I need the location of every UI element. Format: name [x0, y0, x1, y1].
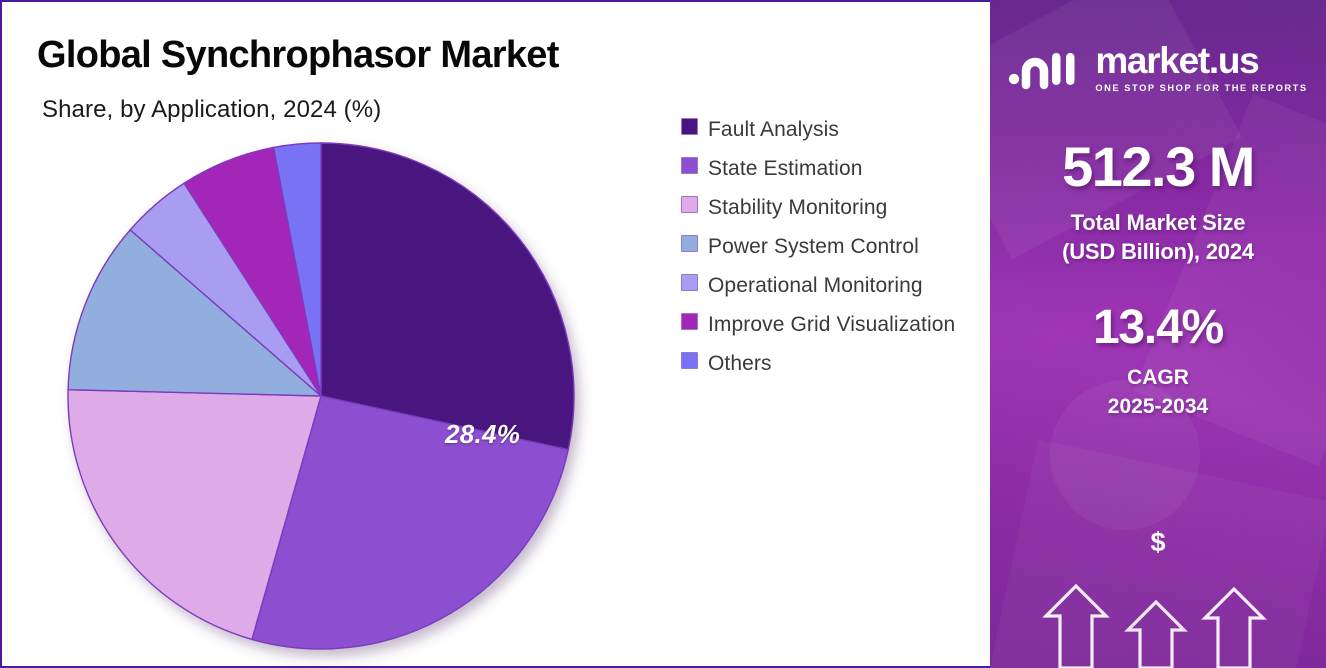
legend-item-state-estimation[interactable]: State Estimation	[681, 151, 981, 186]
legend-label: Stability Monitoring	[708, 190, 887, 225]
legend-item-fault-analysis[interactable]: Fault Analysis	[681, 112, 981, 147]
legend-label: Others	[708, 346, 772, 381]
legend-swatch-icon	[681, 118, 698, 135]
legend-item-others[interactable]: Others	[681, 346, 981, 381]
pie-slice-label-fault-analysis: 28.4%	[445, 419, 520, 450]
legend-item-power-system-control[interactable]: Power System Control	[681, 229, 981, 264]
legend-item-improve-grid-visualization[interactable]: Improve Grid Visualization	[681, 307, 981, 342]
brand-name: market.us	[1095, 42, 1307, 79]
cagr-caption: CAGR 2025-2034	[990, 364, 1326, 421]
market-size-caption: Total Market Size (USD Billion), 2024	[990, 209, 1326, 266]
stats-panel: market.us ONE STOP SHOP FOR THE REPORTS …	[990, 0, 1326, 668]
legend-item-operational-monitoring[interactable]: Operational Monitoring	[681, 268, 981, 303]
brand-logo: market.us ONE STOP SHOP FOR THE REPORTS	[990, 42, 1326, 93]
pie-chart: 28.4%	[64, 139, 579, 654]
cagr-value: 13.4%	[990, 304, 1326, 352]
legend-label: Fault Analysis	[708, 112, 839, 147]
page-subtitle: Share, by Application, 2024 (%)	[42, 96, 381, 124]
market-size-caption-line1: Total Market Size	[990, 209, 1326, 238]
cagr-caption-line2: 2025-2034	[990, 393, 1326, 421]
legend-swatch-icon	[681, 157, 698, 174]
brand-tagline: ONE STOP SHOP FOR THE REPORTS	[1095, 83, 1307, 93]
growth-arrows-icon	[990, 578, 1326, 668]
legend-swatch-icon	[681, 313, 698, 330]
dollar-sign-icon: $	[990, 527, 1326, 558]
infographic-root: Global Synchrophasor Market Share, by Ap…	[0, 0, 1326, 668]
market-size-value: 512.3 M	[990, 139, 1326, 195]
legend-swatch-icon	[681, 352, 698, 369]
chart-panel: Global Synchrophasor Market Share, by Ap…	[0, 0, 990, 668]
legend-label: Power System Control	[708, 229, 919, 264]
page-title: Global Synchrophasor Market	[37, 34, 559, 77]
chart-legend: Fault Analysis State Estimation Stabilit…	[681, 112, 981, 385]
legend-item-stability-monitoring[interactable]: Stability Monitoring	[681, 190, 981, 225]
pie-chart-svg	[64, 139, 579, 654]
legend-swatch-icon	[681, 274, 698, 291]
legend-swatch-icon	[681, 196, 698, 213]
market-us-logo-icon	[1008, 45, 1086, 91]
legend-label: State Estimation	[708, 151, 863, 186]
cagr-caption-line1: CAGR	[990, 364, 1326, 392]
legend-label: Operational Monitoring	[708, 268, 923, 303]
legend-swatch-icon	[681, 235, 698, 252]
brand-text-block: market.us ONE STOP SHOP FOR THE REPORTS	[1095, 42, 1307, 93]
pie-slices	[68, 143, 574, 649]
market-size-caption-line2: (USD Billion), 2024	[990, 238, 1326, 267]
legend-label: Improve Grid Visualization	[708, 307, 955, 342]
